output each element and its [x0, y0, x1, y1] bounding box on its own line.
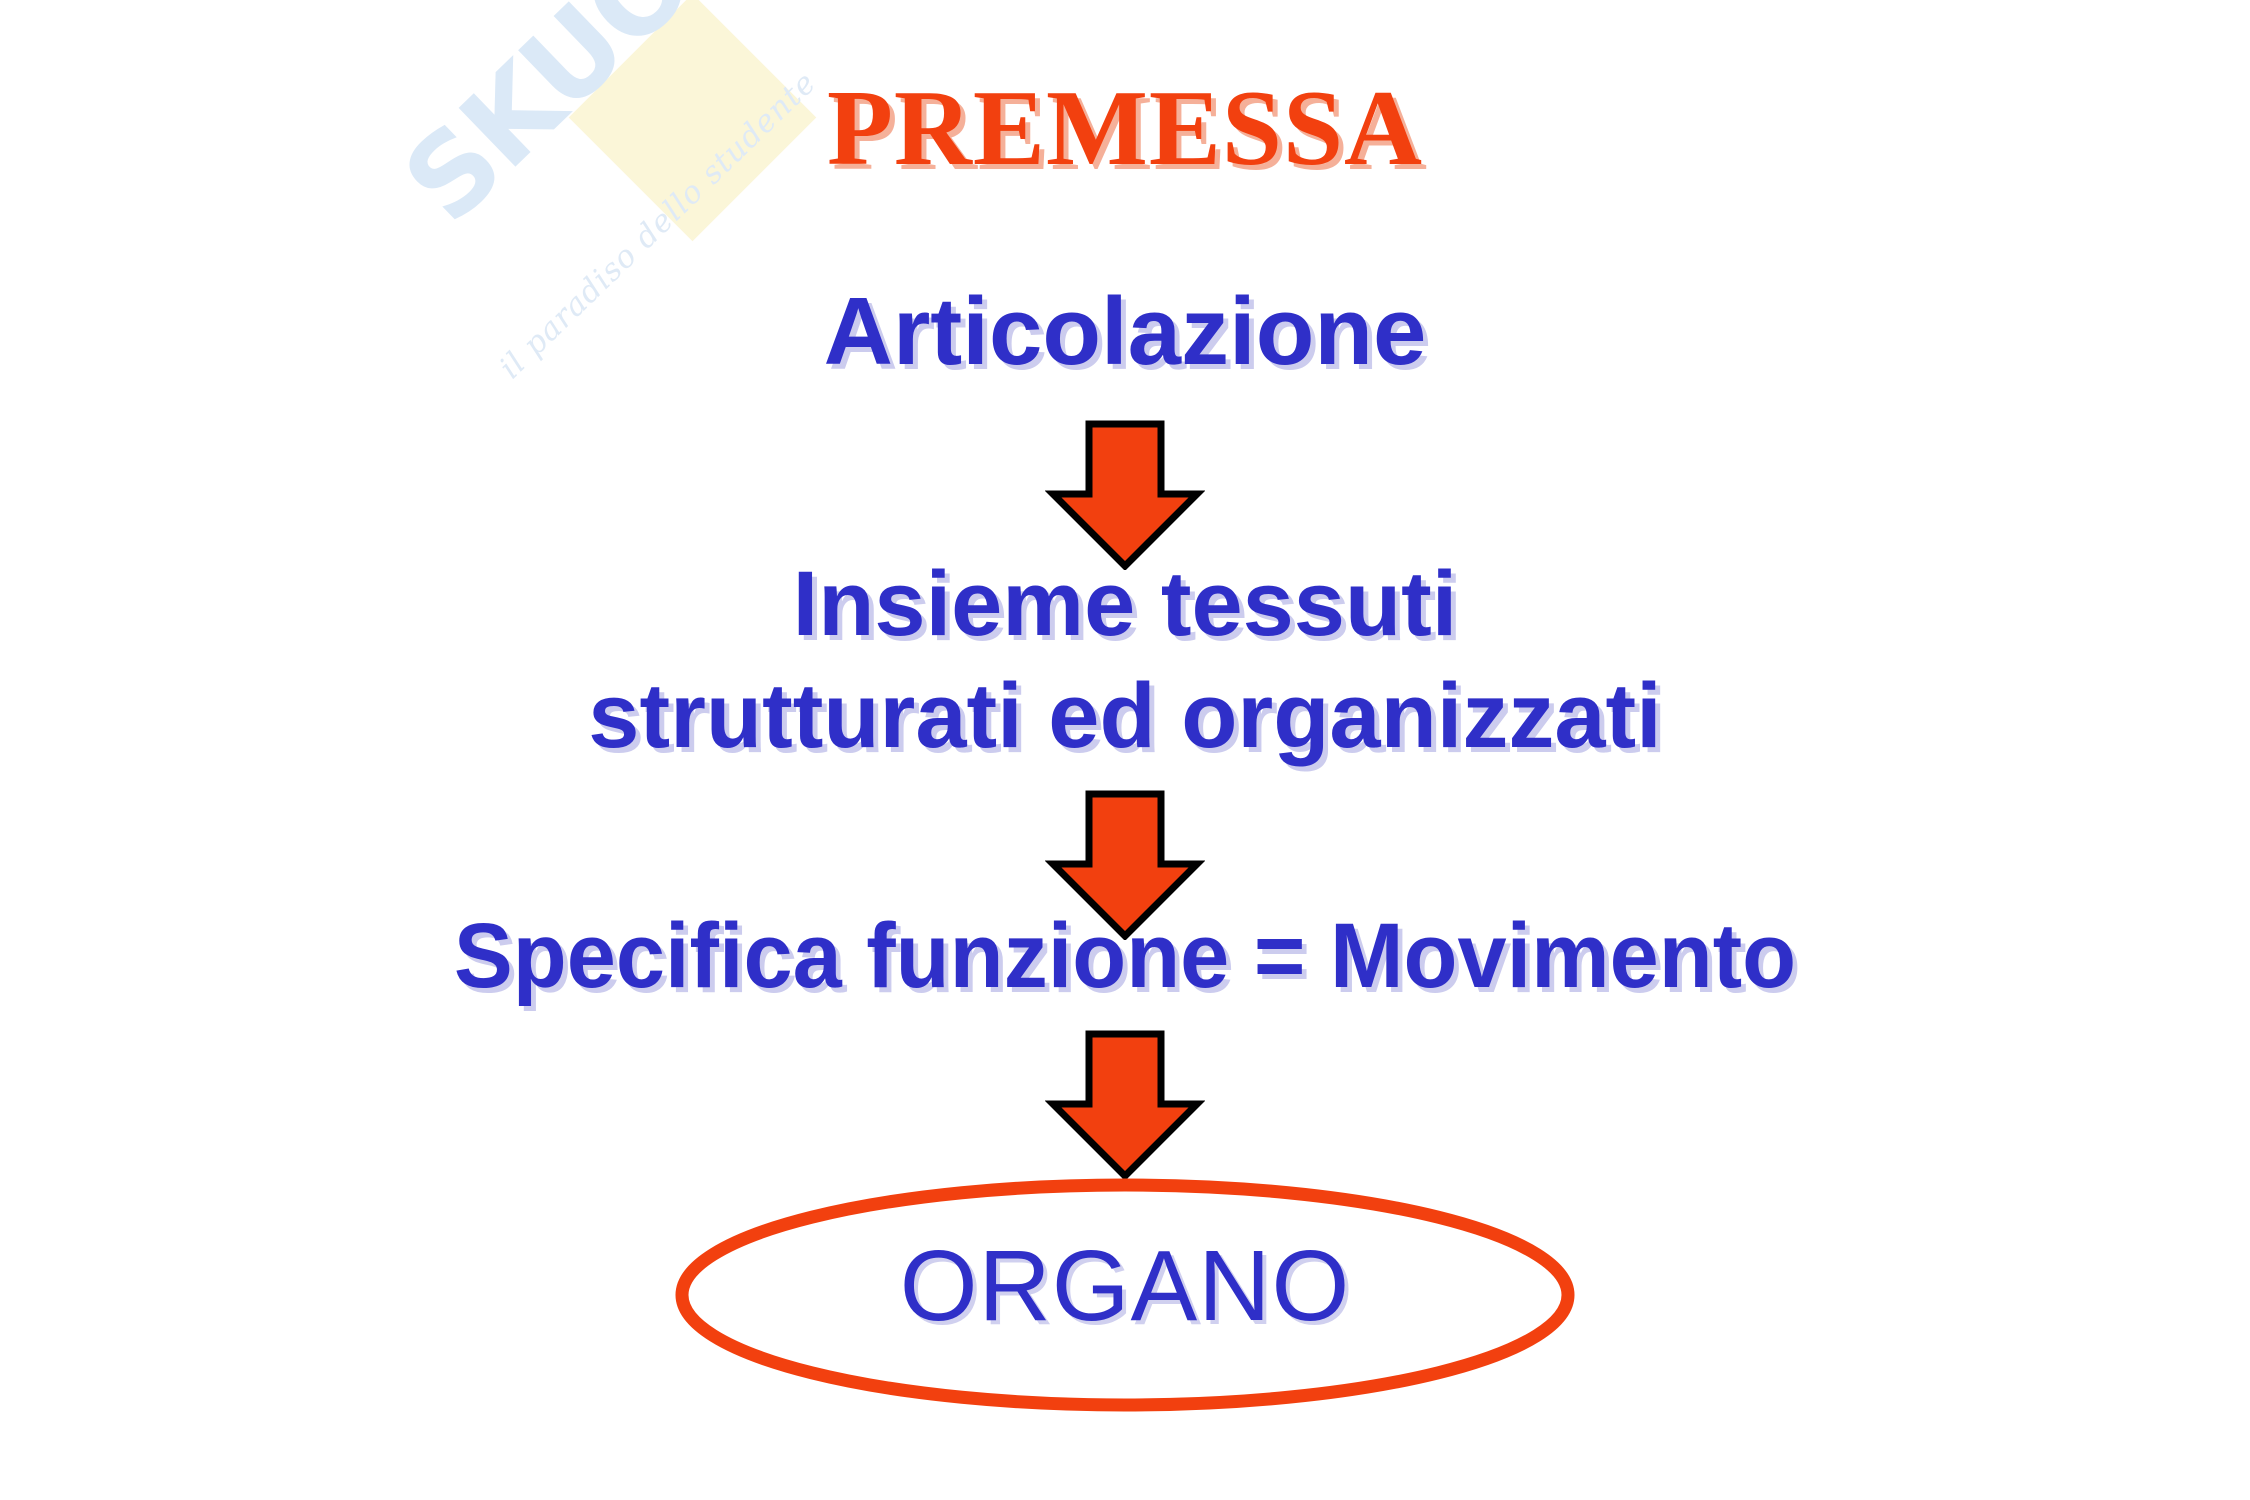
- flow-step-articolazione: Articolazione: [0, 282, 2250, 383]
- flow-step-organo: ORGANO: [675, 1178, 1575, 1413]
- flow-step-insieme-tessuti: Insieme tessuti strutturati ed organizza…: [0, 548, 2250, 772]
- flow-step-insieme-line1: Insieme tessuti: [793, 553, 1458, 655]
- down-arrow-icon: [1045, 1030, 1205, 1180]
- flow-diagram: PREMESSA Articolazione Insieme tessuti s…: [0, 0, 2250, 1500]
- flow-step-specifica-funzione: Specifica funzione = Movimento: [45, 908, 2205, 1005]
- slide-canvas: SKUOLA.net il paradiso dello studente PR…: [0, 0, 2250, 1500]
- flow-step-organo-label: ORGANO: [675, 1234, 1575, 1339]
- flow-step-insieme-line2: strutturati ed organizzati: [0, 660, 2250, 772]
- slide-title: PREMESSA: [0, 72, 2250, 185]
